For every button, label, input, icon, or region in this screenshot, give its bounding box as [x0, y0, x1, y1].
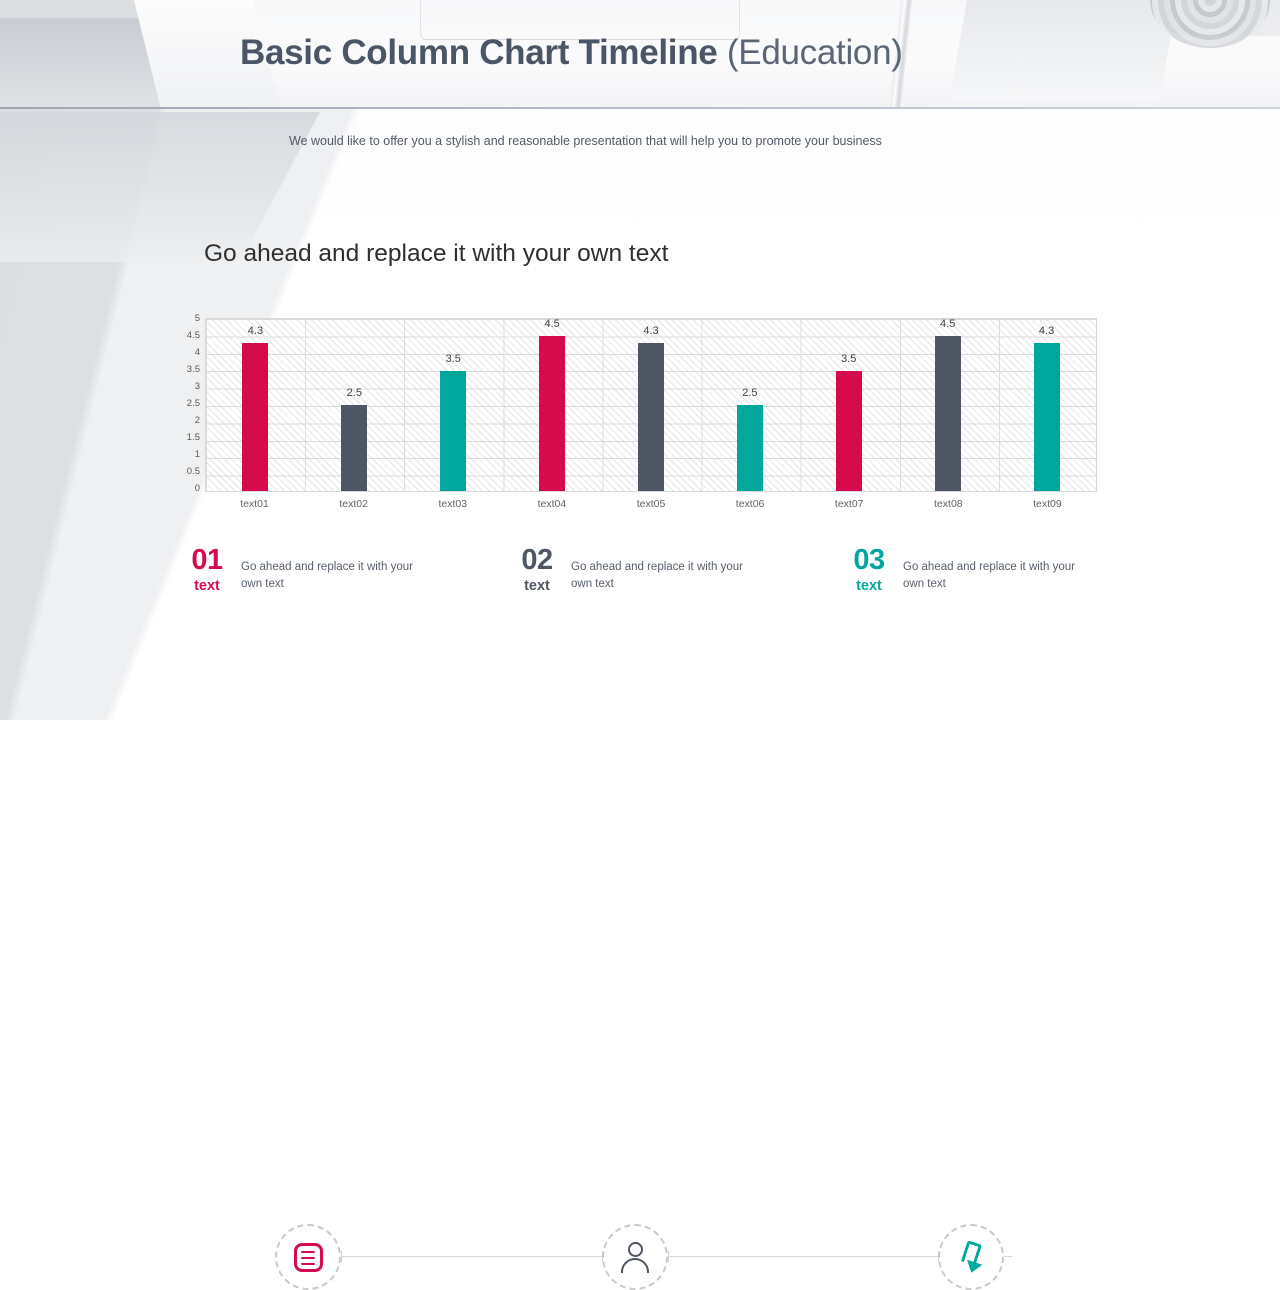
y-tick-label: 5	[195, 315, 200, 323]
pencil-icon	[956, 1242, 986, 1273]
chart-bar-value-label: 2.5	[742, 387, 757, 399]
chart-x-axis: text01text02text03text04text05text06text…	[205, 498, 1097, 510]
y-tick-label: 0	[195, 485, 200, 493]
x-tick-label: text04	[502, 498, 601, 510]
step-number-block: 02text	[508, 545, 566, 597]
section-heading: Go ahead and replace it with your own te…	[204, 240, 668, 268]
timeline-connector-line-end	[1004, 1256, 1012, 1257]
timeline-step-02: 02textGo ahead and replace it with your …	[508, 545, 744, 597]
y-tick-label: 3.5	[187, 366, 200, 374]
chart-bar-value-label: 4.5	[940, 318, 955, 330]
timeline-connector-cap	[341, 1251, 342, 1262]
timeline-connector-line	[668, 1256, 938, 1257]
y-tick-label: 3	[195, 383, 200, 391]
chart-bar-slot: 3.5	[404, 319, 503, 491]
x-tick-label: text05	[601, 498, 700, 510]
x-tick-label: text01	[205, 498, 304, 510]
timeline-step-03: 03textGo ahead and replace it with your …	[840, 545, 1076, 597]
chart-bar-value-label: 4.3	[1039, 325, 1054, 337]
chart-bar-value-label: 4.5	[544, 318, 559, 330]
y-tick-label: 4	[195, 349, 200, 357]
x-tick-label: text03	[403, 498, 502, 510]
step-subtitle: text	[840, 575, 898, 597]
slide-subtitle: We would like to offer you a stylish and…	[289, 134, 882, 148]
document-list-icon	[294, 1243, 323, 1272]
timeline-connector-cap	[668, 1251, 669, 1262]
chart-plot-area: 4.32.53.54.54.32.53.54.54.3	[205, 318, 1097, 492]
header-decor-shape-4	[949, 0, 1180, 100]
chart-bar-value-label: 4.3	[643, 325, 658, 337]
column-chart: 54.543.532.521.510.50 4.32.53.54.54.32.5…	[178, 315, 1108, 520]
user-head	[628, 1242, 643, 1257]
chart-bar-slot: 2.5	[305, 319, 404, 491]
document-line	[301, 1263, 315, 1266]
page-title-bold: Basic Column Chart Timeline	[240, 33, 717, 72]
x-tick-label: text09	[998, 498, 1097, 510]
chart-bars: 4.32.53.54.54.32.53.54.54.3	[206, 319, 1096, 491]
x-tick-label: text06	[701, 498, 800, 510]
chart-y-axis: 54.543.532.521.510.50	[178, 315, 200, 493]
step-number: 02	[508, 545, 566, 575]
chart-bar-value-label: 4.3	[248, 325, 263, 337]
chart-bar[interactable]: 4.3	[638, 343, 664, 491]
y-tick-label: 4.5	[187, 332, 200, 340]
chart-bar[interactable]: 2.5	[341, 405, 367, 491]
step-subtitle: text	[178, 575, 236, 597]
step-number: 03	[840, 545, 898, 575]
chart-bar[interactable]: 4.3	[242, 343, 268, 491]
chart-bar[interactable]: 3.5	[836, 371, 862, 491]
user-body	[621, 1258, 649, 1273]
y-tick-label: 2	[195, 417, 200, 425]
chart-bar-slot: 2.5	[700, 319, 799, 491]
chart-bar-slot: 4.3	[997, 319, 1096, 491]
chart-bar-slot: 4.5	[503, 319, 602, 491]
chart-bar-slot: 3.5	[799, 319, 898, 491]
user-icon	[620, 1242, 650, 1273]
step-description: Go ahead and replace it with your own te…	[566, 545, 744, 593]
chart-bar[interactable]: 4.5	[935, 336, 961, 491]
timeline-icon-node-01[interactable]	[275, 1224, 341, 1290]
y-tick-label: 0.5	[187, 468, 200, 476]
timeline-icon-row	[0, 612, 1280, 678]
y-tick-label: 1.5	[187, 434, 200, 442]
timeline-connector-line	[341, 1256, 602, 1257]
chart-bar-slot: 4.3	[206, 319, 305, 491]
page-title: Basic Column Chart Timeline (Education)	[240, 33, 903, 73]
chart-bar[interactable]: 3.5	[440, 371, 466, 491]
chart-bar-value-label: 2.5	[347, 387, 362, 399]
timeline-step-01: 01textGo ahead and replace it with your …	[178, 545, 414, 597]
timeline-steps: 01textGo ahead and replace it with your …	[178, 545, 1138, 615]
x-tick-label: text07	[800, 498, 899, 510]
chart-bar-slot: 4.3	[602, 319, 701, 491]
chart-bar[interactable]: 2.5	[737, 405, 763, 491]
timeline-icon-node-03[interactable]	[938, 1224, 1004, 1290]
y-tick-label: 1	[195, 451, 200, 459]
x-tick-label: text02	[304, 498, 403, 510]
y-tick-label: 2.5	[187, 400, 200, 408]
chart-bar-value-label: 3.5	[841, 353, 856, 365]
chart-bar[interactable]: 4.5	[539, 336, 565, 491]
document-line	[301, 1257, 315, 1260]
chart-bar-value-label: 3.5	[446, 353, 461, 365]
chart-bar-slot: 4.5	[898, 319, 997, 491]
x-tick-label: text08	[899, 498, 998, 510]
page-title-light: (Education)	[727, 33, 903, 72]
step-number: 01	[178, 545, 236, 575]
step-number-block: 03text	[840, 545, 898, 597]
step-subtitle: text	[508, 575, 566, 597]
timeline-icon-node-02[interactable]	[602, 1224, 668, 1290]
document-line	[301, 1251, 315, 1254]
pencil-tip	[964, 1259, 983, 1274]
step-description: Go ahead and replace it with your own te…	[898, 545, 1076, 593]
chart-bar[interactable]: 4.3	[1034, 343, 1060, 491]
step-description: Go ahead and replace it with your own te…	[236, 545, 414, 593]
step-number-block: 01text	[178, 545, 236, 597]
